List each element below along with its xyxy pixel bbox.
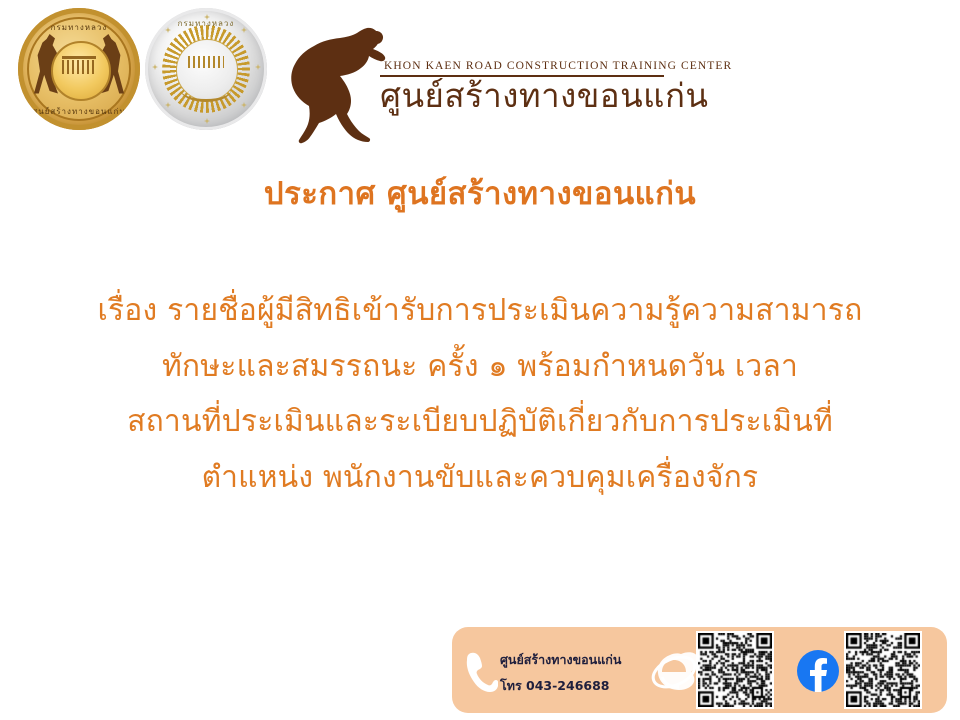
- silver-seal-star-sw: [165, 102, 171, 108]
- announcement-body-line-3: สถานที่ประเมินและระเบียบปฏิบัติเกี่ยวกับ…: [0, 394, 960, 450]
- contact-org-name: ศูนย์สร้างทางขอนแก่น: [500, 647, 670, 673]
- phone-icon: [464, 651, 498, 693]
- silver-seal-arc-top-text: กรมทางหลวง: [145, 17, 267, 30]
- announcement-body-line-2: ทักษะและสมรรถนะ ครั้ง ๑ พร้อมกำหนดวัน เว…: [0, 339, 960, 395]
- department-of-highways-silver-seal: กรมทางหลวง: [145, 8, 267, 130]
- brand-lockup: KHON KAEN ROAD CONSTRUCTION TRAINING CEN…: [272, 14, 732, 144]
- brand-english-line: KHON KAEN ROAD CONSTRUCTION TRAINING CEN…: [380, 60, 730, 72]
- silver-seal-star-se: [241, 102, 247, 108]
- silver-seal-crest-icon: [188, 54, 224, 80]
- gold-seal-arc-bottom-text: ศูนย์สร้างทางขอนแก่น: [18, 105, 140, 118]
- facebook-qr-code[interactable]: [844, 631, 922, 709]
- contact-bar: ศูนย์สร้างทางขอนแก่น โทร 043-246688: [452, 627, 947, 713]
- website-qr-code[interactable]: [696, 631, 774, 709]
- brand-thai-line: ศูนย์สร้างทางขอนแก่น: [380, 78, 730, 115]
- announcement-body-line-4: ตำแหน่ง พนักงานขับและควบคุมเครื่องจักร: [0, 450, 960, 506]
- announcement-body: เรื่อง รายชื่อผู้มีสิทธิเข้ารับการประเมิ…: [0, 283, 960, 505]
- gold-seal-crest-icon: [62, 52, 96, 82]
- silver-seal-wings-icon: [181, 79, 231, 102]
- silver-seal-star-w: [152, 64, 158, 70]
- website-qr-canvas: [698, 633, 772, 707]
- kangaroo-logo-icon: [272, 18, 392, 146]
- internet-explorer-icon[interactable]: [648, 647, 700, 695]
- facebook-qr-canvas: [846, 633, 920, 707]
- department-of-highways-gold-seal: กรมทางหลวง ศูนย์สร้างทางขอนแก่น: [18, 8, 140, 130]
- announcement-title: ประกาศ ศูนย์สร้างทางขอนแก่น: [0, 168, 960, 218]
- silver-seal-star-s: [204, 118, 210, 124]
- facebook-icon[interactable]: [796, 649, 840, 693]
- silver-seal-star-e: [255, 64, 261, 70]
- brand-text-block: KHON KAEN ROAD CONSTRUCTION TRAINING CEN…: [380, 60, 730, 115]
- header-band: กรมทางหลวง ศูนย์สร้างทางขอนแก่น กรมทางหล…: [0, 0, 960, 150]
- contact-phone-line: โทร 043-246688: [500, 673, 670, 699]
- contact-text-block: ศูนย์สร้างทางขอนแก่น โทร 043-246688: [500, 647, 670, 700]
- gold-seal-arc-top-text: กรมทางหลวง: [18, 21, 140, 34]
- announcement-body-line-1: เรื่อง รายชื่อผู้มีสิทธิเข้ารับการประเมิ…: [0, 283, 960, 339]
- announcement-slide: กรมทางหลวง ศูนย์สร้างทางขอนแก่น กรมทางหล…: [0, 0, 960, 720]
